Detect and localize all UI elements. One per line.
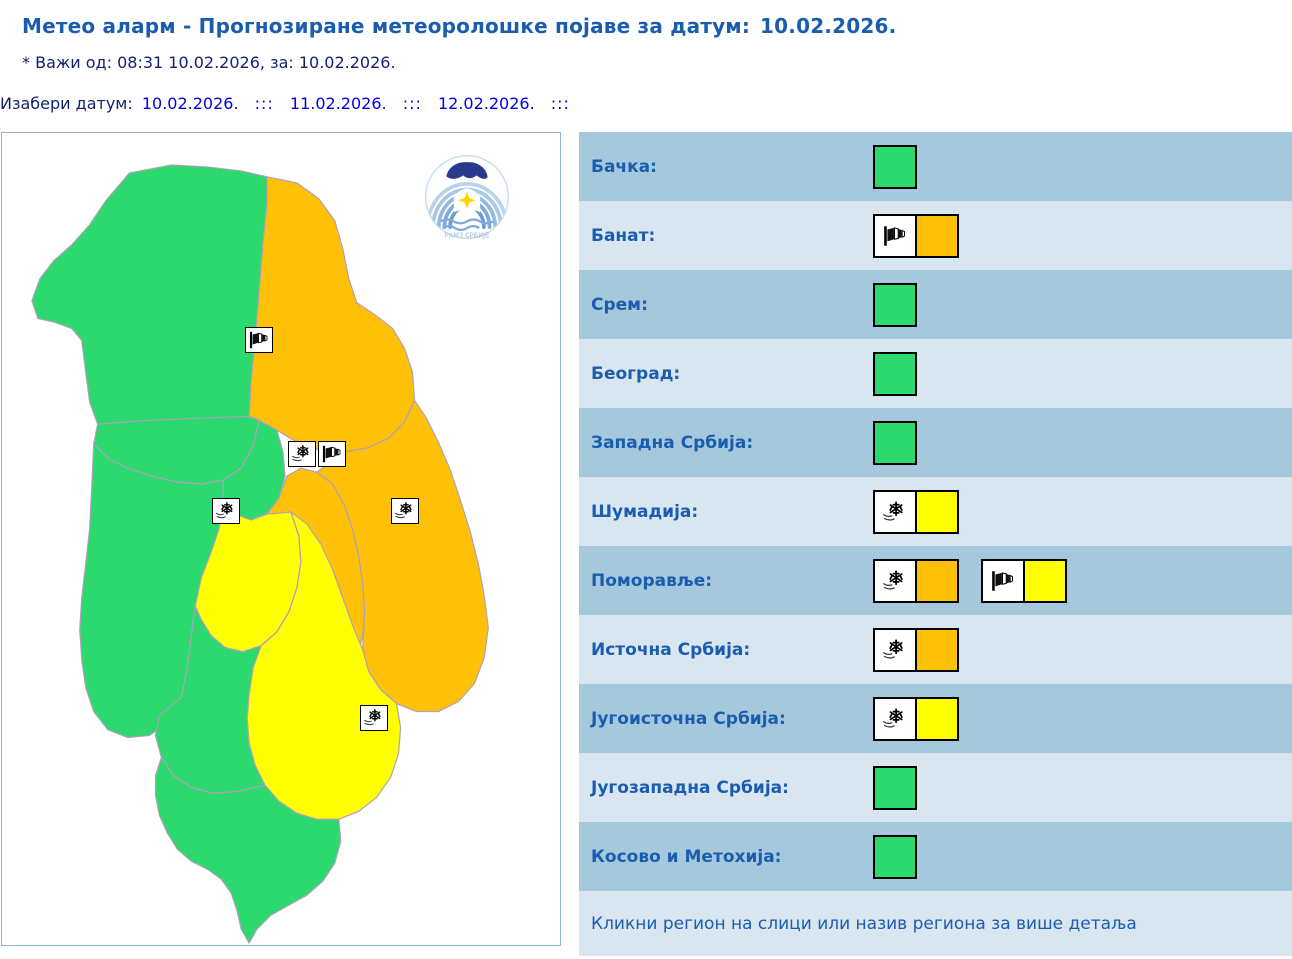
date-link-0[interactable]: 10.02.2026. <box>142 94 239 113</box>
region-badges <box>873 283 917 327</box>
alert-level-swatch <box>875 354 915 394</box>
hazard-icon-cell <box>875 699 917 739</box>
alert-level-swatch <box>917 561 957 601</box>
snow-icon <box>363 708 385 728</box>
hazard-icon-cell <box>983 561 1025 601</box>
hazard-icon-cell <box>875 630 917 670</box>
region-name-label[interactable]: Београд: <box>591 364 873 384</box>
region-row[interactable]: Срем: <box>579 270 1292 339</box>
alert-badge[interactable] <box>873 283 917 327</box>
region-row[interactable]: Шумадија: <box>579 477 1292 546</box>
alert-badge[interactable] <box>873 214 959 258</box>
region-name-label[interactable]: Југоисточна Србија: <box>591 709 873 729</box>
snow-icon <box>882 500 908 524</box>
region-row[interactable]: Југоисточна Србија: <box>579 684 1292 753</box>
alert-badge[interactable] <box>873 352 917 396</box>
region-badges <box>873 835 917 879</box>
region-list: Бачка:Банат:Срем:Београд:Западна Србија:… <box>579 132 1292 956</box>
alert-level-swatch <box>917 492 957 532</box>
region-badges <box>873 352 917 396</box>
wind-icon <box>321 444 343 464</box>
region-row[interactable]: Западна Србија: <box>579 408 1292 477</box>
map-wind-icon-banat[interactable] <box>245 327 273 353</box>
click-hint-text: Кликни регион на слици или назив региона… <box>591 914 1137 934</box>
snow-icon <box>882 569 908 593</box>
date-separator-1: ::: <box>403 94 422 113</box>
date-link-1[interactable]: 11.02.2026. <box>290 94 387 113</box>
region-name-label[interactable]: Бачка: <box>591 157 873 177</box>
region-row[interactable]: Београд: <box>579 339 1292 408</box>
page-header: Метео аларм - Прогнозиране метеоролошке … <box>0 0 1292 113</box>
alert-badge[interactable] <box>873 145 917 189</box>
alert-level-swatch <box>1025 561 1065 601</box>
region-name-label[interactable]: Косово и Метохија: <box>591 847 873 867</box>
wind-icon <box>882 224 908 248</box>
alert-level-swatch <box>917 699 957 739</box>
region-name-label[interactable]: Југозападна Србија: <box>591 778 873 798</box>
alert-badge[interactable] <box>873 835 917 879</box>
hazard-icon-cell <box>875 492 917 532</box>
alert-level-swatch <box>875 768 915 808</box>
region-list-footer: Кликни регион на слици или назив региона… <box>579 891 1292 956</box>
map-region-banat[interactable] <box>249 177 414 452</box>
map-region-backa[interactable] <box>32 165 267 424</box>
region-row[interactable]: Поморавље: <box>579 546 1292 615</box>
page-title: Метео аларм - Прогнозиране метеоролошке … <box>22 0 1292 38</box>
region-badges <box>873 559 1067 603</box>
region-row[interactable]: Косово и Метохија: <box>579 822 1292 891</box>
region-name-label[interactable]: Западна Србија: <box>591 433 873 453</box>
alert-badge[interactable] <box>873 628 959 672</box>
map-snow-icon-istocna-srbija[interactable] <box>391 498 419 524</box>
page-title-date: 10.02.2026. <box>760 14 896 38</box>
snow-icon <box>394 501 416 521</box>
alert-level-swatch <box>917 630 957 670</box>
region-name-label[interactable]: Шумадија: <box>591 502 873 522</box>
validity-note: * Важи од: 08:31 10.02.2026, за: 10.02.2… <box>22 38 1292 72</box>
logo-caption-text: РХМЗ СРБИЈЕ <box>445 231 490 239</box>
date-separator-0: ::: <box>255 94 274 113</box>
alert-badge[interactable] <box>981 559 1067 603</box>
alert-badge[interactable] <box>873 421 917 465</box>
map-panel[interactable]: РХМЗ СРБИЈЕ <box>1 132 561 946</box>
hazard-icon-cell <box>875 561 917 601</box>
snow-icon <box>215 501 237 521</box>
date-link-2[interactable]: 12.02.2026. <box>438 94 535 113</box>
region-row[interactable]: Југозападна Србија: <box>579 753 1292 822</box>
map-snow-icon-pomoravlje-north[interactable] <box>288 441 316 467</box>
alert-badge[interactable] <box>873 490 959 534</box>
region-badges <box>873 490 959 534</box>
alert-badge[interactable] <box>873 559 959 603</box>
region-badges <box>873 421 917 465</box>
region-row[interactable]: Источна Србија: <box>579 615 1292 684</box>
alert-level-swatch <box>875 147 915 187</box>
alert-level-swatch <box>875 285 915 325</box>
wind-icon <box>248 330 270 350</box>
region-name-label[interactable]: Поморавље: <box>591 571 873 591</box>
alert-level-swatch <box>917 216 957 256</box>
region-name-label[interactable]: Банат: <box>591 226 873 246</box>
page-title-text: Метео аларм - Прогнозиране метеоролошке … <box>22 14 750 38</box>
region-badges <box>873 145 917 189</box>
alert-level-swatch <box>875 837 915 877</box>
region-badges <box>873 766 917 810</box>
date-chooser-label: Изабери датум: <box>0 94 133 113</box>
main-content: РХМЗ СРБИЈЕ <box>0 132 1292 956</box>
map-wind-icon-pomoravlje[interactable] <box>318 441 346 467</box>
snow-icon <box>882 707 908 731</box>
hazard-icon-cell <box>875 216 917 256</box>
date-chooser: Изабери датум: 10.02.2026. ::: 11.02.202… <box>0 72 1292 113</box>
snow-icon <box>882 638 908 662</box>
region-row[interactable]: Банат: <box>579 201 1292 270</box>
region-badges <box>873 697 959 741</box>
date-separator-2: ::: <box>551 94 570 113</box>
map-snow-icon-jugoistocna-srbija[interactable] <box>360 705 388 731</box>
serbia-alert-map[interactable] <box>2 133 560 945</box>
region-row[interactable]: Бачка: <box>579 132 1292 201</box>
snow-icon <box>291 444 313 464</box>
region-name-label[interactable]: Источна Србија: <box>591 640 873 660</box>
alert-level-swatch <box>875 423 915 463</box>
rhmz-logo-icon: РХМЗ СРБИЈЕ <box>420 150 514 244</box>
region-name-label[interactable]: Срем: <box>591 295 873 315</box>
alert-badge[interactable] <box>873 766 917 810</box>
wind-icon <box>990 569 1016 593</box>
region-badges <box>873 214 959 258</box>
map-snow-icon-sumadija[interactable] <box>212 498 240 524</box>
alert-badge[interactable] <box>873 697 959 741</box>
region-badges <box>873 628 959 672</box>
